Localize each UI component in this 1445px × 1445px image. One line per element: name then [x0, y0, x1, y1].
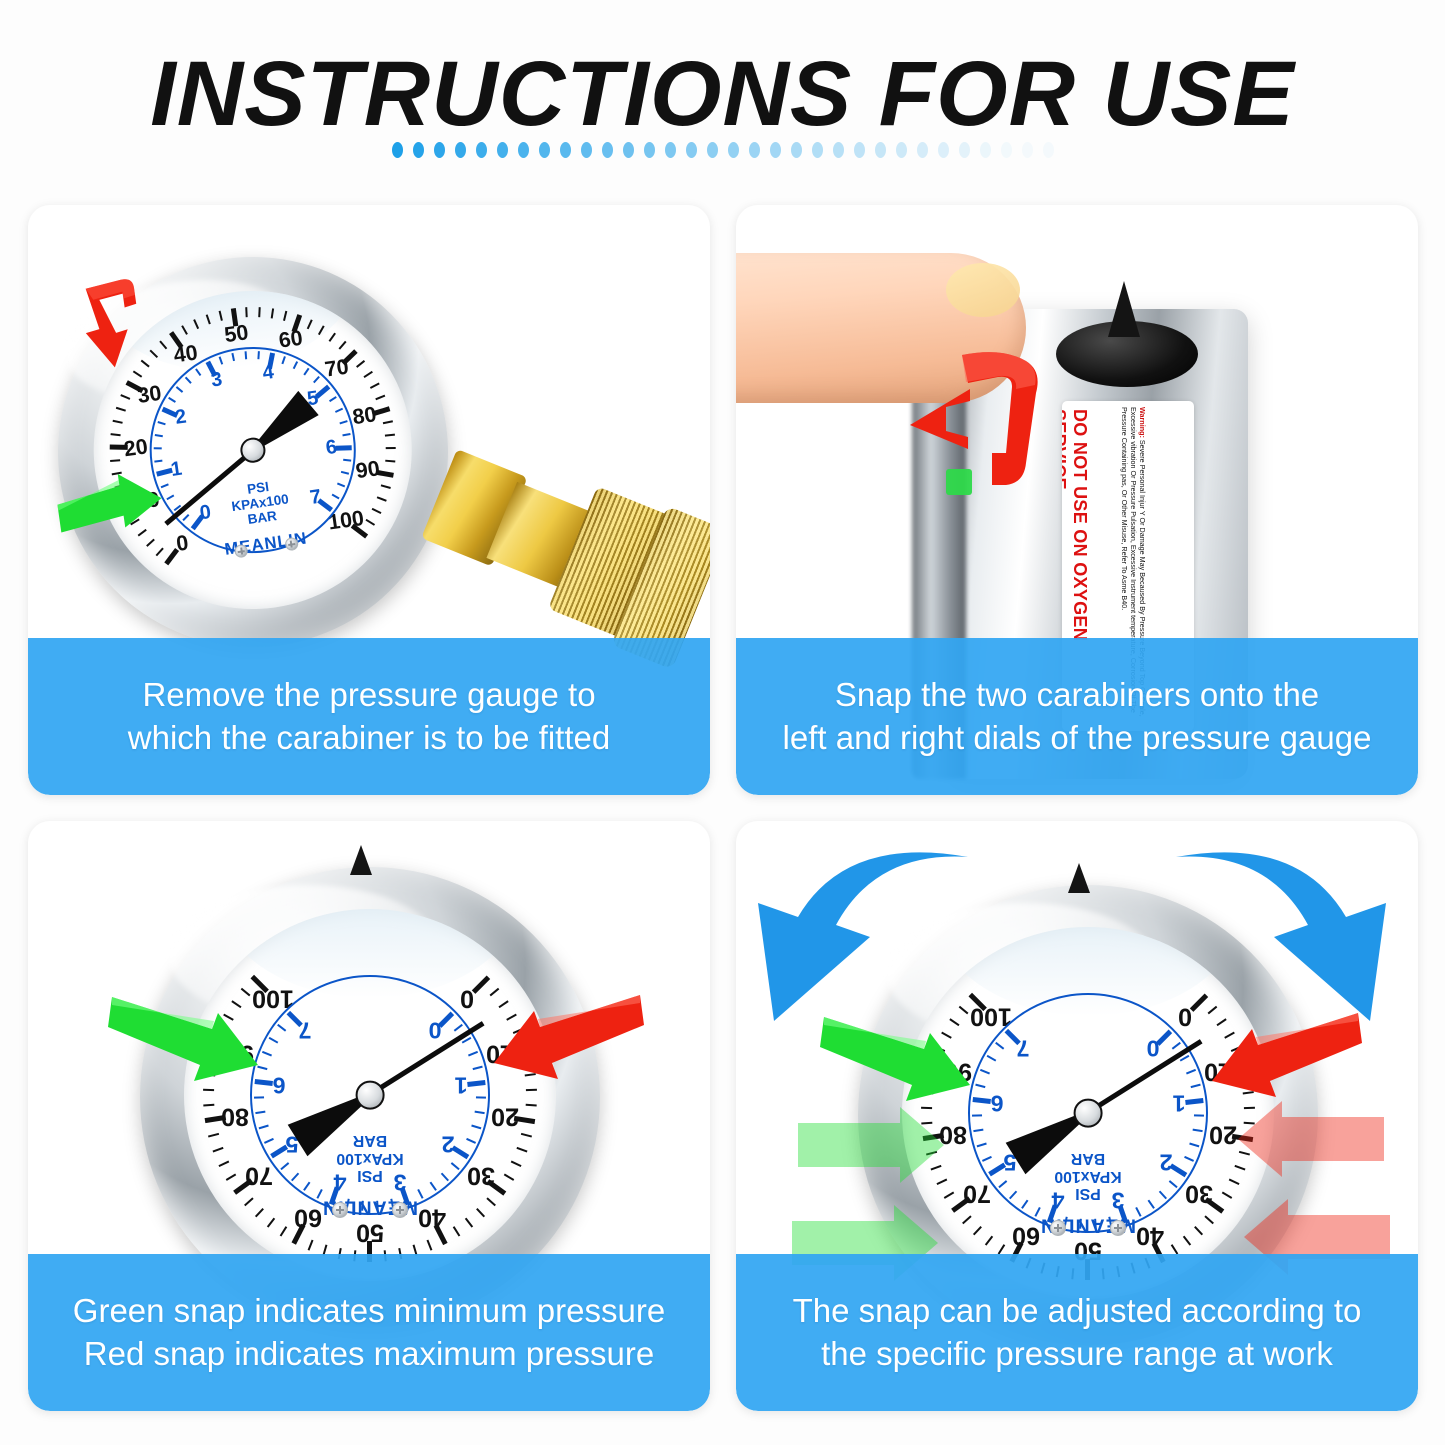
divider-dot — [455, 142, 466, 158]
psi-number: 40 — [418, 1202, 446, 1231]
divider-dot — [791, 142, 802, 158]
divider-dot — [980, 142, 991, 158]
red-arrow-right[interactable] — [486, 979, 646, 1089]
header: INSTRUCTIONS FOR USE — [0, 0, 1445, 200]
panel-1-caption: Remove the pressure gauge to which the c… — [28, 638, 710, 795]
red-snap-marker[interactable] — [906, 345, 1106, 535]
caption-line: Snap the two carabiners onto the — [835, 674, 1319, 716]
panel-card-2: Warning: Severe Personal Injur Y Or Dama… — [736, 205, 1418, 795]
psi-number: 30 — [467, 1161, 495, 1190]
psi-number: 50 — [356, 1217, 384, 1246]
panel-2-caption: Snap the two carabiners onto the left an… — [736, 638, 1418, 795]
divider-dot — [413, 142, 424, 158]
divider-dot — [476, 142, 487, 158]
green-arrow-left[interactable] — [106, 981, 266, 1091]
divider-dot — [1022, 142, 1033, 158]
panel-card-4: 010203040506070809010001234567PSIKPAx100… — [736, 821, 1418, 1411]
bar-number: 2 — [1159, 1148, 1172, 1175]
psi-number: 20 — [122, 434, 149, 462]
dial-screw — [1110, 1220, 1126, 1236]
divider-dot — [938, 142, 949, 158]
caption-line: the specific pressure range at work — [821, 1333, 1333, 1375]
divider-dot — [497, 142, 508, 158]
unit-text-block: PSIKPAx100BAR — [1054, 1150, 1121, 1202]
divider-dot — [644, 142, 655, 158]
green-arrow-left[interactable] — [818, 1001, 978, 1111]
pressure-gauge-tilted: 010203040506070809010001234567PSIKPAx100… — [33, 232, 473, 672]
divider-dot — [392, 142, 403, 158]
psi-number: 0 — [460, 984, 474, 1013]
divider-dot — [875, 142, 886, 158]
psi-number: 80 — [351, 402, 378, 430]
gauge-glass: 010203040506070809010001234567PSIKPAx100… — [184, 909, 556, 1281]
divider-dot — [812, 142, 823, 158]
psi-number: 30 — [1185, 1179, 1213, 1208]
divider-dot — [581, 142, 592, 158]
unit-label: PSI — [1054, 1185, 1121, 1202]
divider-dot — [434, 142, 445, 158]
page-title: INSTRUCTIONS FOR USE — [0, 42, 1445, 147]
divider-dot — [560, 142, 571, 158]
bar-number: 6 — [272, 1071, 285, 1098]
needle-hub — [356, 1081, 385, 1110]
unit-label: KPAx100 — [1054, 1168, 1121, 1185]
panel-card-1: 010203040506070809010001234567PSIKPAx100… — [28, 205, 710, 795]
divider-dot — [707, 142, 718, 158]
vent-nipple — [1108, 281, 1140, 337]
unit-label: BAR — [1054, 1150, 1121, 1167]
divider-dot — [539, 142, 550, 158]
caption-line: Red snap indicates maximum pressure — [84, 1333, 654, 1375]
psi-number: 70 — [963, 1179, 991, 1208]
panel-card-3: 010203040506070809010001234567PSIKPAx100… — [28, 821, 710, 1411]
unit-text-block: PSIKPAx100BAR — [336, 1132, 403, 1184]
psi-number: 60 — [277, 325, 304, 353]
divider-dot — [917, 142, 928, 158]
bar-number: 1 — [455, 1071, 468, 1098]
vent-nipple — [350, 845, 372, 875]
divider-dot — [686, 142, 697, 158]
dial-screw — [392, 1202, 408, 1218]
psi-number: 70 — [245, 1161, 273, 1190]
bar-number: 0 — [429, 1016, 442, 1043]
caption-line: Green snap indicates minimum pressure — [73, 1290, 665, 1332]
ghost-green-arrow-upper — [792, 1097, 952, 1193]
bar-number: 1 — [1173, 1089, 1186, 1116]
psi-number: 90 — [354, 456, 381, 484]
divider-dot — [1001, 142, 1012, 158]
panel-4-caption: The snap can be adjusted according to th… — [736, 1254, 1418, 1411]
vent-nipple — [1068, 863, 1090, 893]
dot-divider — [0, 142, 1445, 158]
psi-number: 50 — [223, 320, 250, 348]
green-snap-marker[interactable] — [946, 469, 972, 495]
unit-label: PSI — [336, 1167, 403, 1184]
divider-dot — [896, 142, 907, 158]
red-snap-marker[interactable] — [50, 261, 195, 398]
panel-3-caption: Green snap indicates minimum pressure Re… — [28, 1254, 710, 1411]
divider-dot — [854, 142, 865, 158]
caption-line: left and right dials of the pressure gau… — [783, 717, 1372, 759]
needle-hub — [1074, 1099, 1103, 1128]
caption-line: which the carabiner is to be fitted — [128, 717, 610, 759]
bar-number: 6 — [990, 1089, 1003, 1116]
divider-dot — [959, 142, 970, 158]
psi-number: 80 — [221, 1102, 249, 1131]
divider-dot — [833, 142, 844, 158]
bar-number: 7 — [298, 1016, 311, 1043]
green-snap-marker[interactable] — [47, 459, 177, 555]
unit-label: BAR — [336, 1132, 403, 1149]
psi-number: 60 — [1012, 1220, 1040, 1249]
caption-line: Remove the pressure gauge to — [142, 674, 595, 716]
divider-dot — [665, 142, 676, 158]
bar-number: 7 — [1016, 1034, 1029, 1061]
psi-number: 60 — [294, 1202, 322, 1231]
divider-dot — [749, 142, 760, 158]
fingernail — [946, 263, 1020, 317]
unit-text-block: PSIKPAx100BAR — [229, 477, 292, 529]
instruction-infographic: INSTRUCTIONS FOR USE 0102030405060708090… — [0, 0, 1445, 1445]
caption-line: The snap can be adjusted according to — [793, 1290, 1362, 1332]
divider-dot — [623, 142, 634, 158]
divider-dot — [770, 142, 781, 158]
divider-dot — [602, 142, 613, 158]
psi-number: 20 — [491, 1102, 519, 1131]
bar-number: 0 — [1147, 1034, 1160, 1061]
unit-label: KPAx100 — [336, 1150, 403, 1167]
warning-label-heading: Warning: — [1138, 407, 1147, 438]
psi-number: 0 — [175, 530, 190, 556]
psi-number: 40 — [1136, 1220, 1164, 1249]
red-arrow-right[interactable] — [1204, 997, 1364, 1107]
bar-number: 2 — [441, 1130, 454, 1157]
panel-grid: 010203040506070809010001234567PSIKPAx100… — [28, 205, 1418, 1420]
gauge-dial-3: 010203040506070809010001234567PSIKPAx100… — [184, 909, 556, 1281]
divider-dot — [518, 142, 529, 158]
divider-dot — [1043, 142, 1054, 158]
divider-dot — [728, 142, 739, 158]
